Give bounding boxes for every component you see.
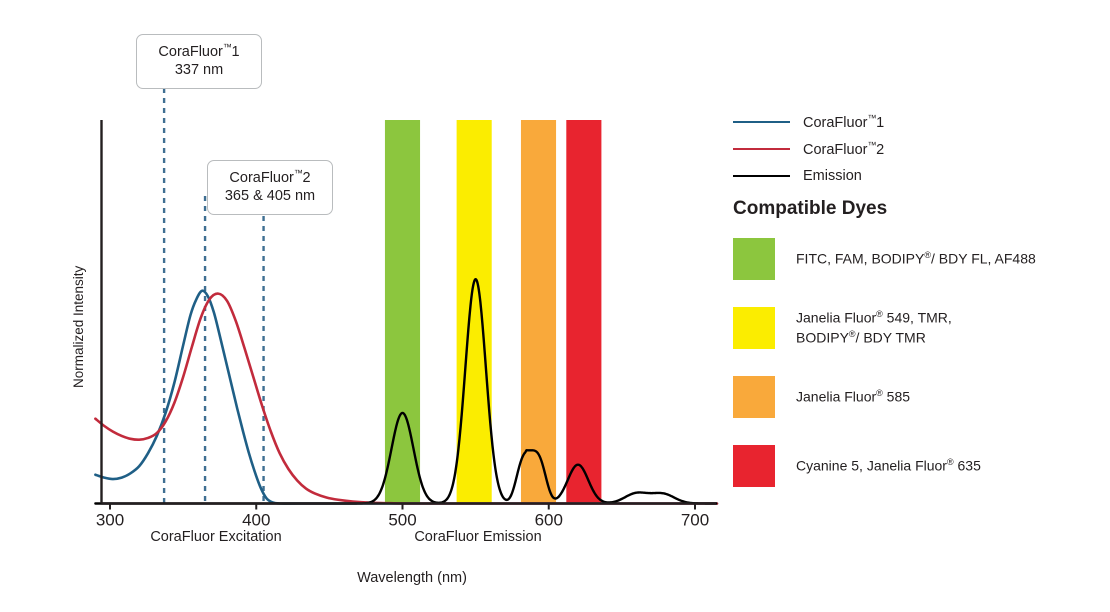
callout-2-value: 365 & 405 nm — [225, 188, 315, 204]
chart-axis-ticks-group: 300400500600700 — [96, 504, 709, 530]
dye-item-3: Janelia Fluor® 585 — [731, 372, 1110, 422]
compatible-dyes-list: FITC, FAM, BODIPY®/ BDY FL, AF488Janelia… — [731, 234, 1110, 510]
dye-color-swatch — [733, 307, 775, 349]
dye-color-swatch — [733, 238, 775, 280]
legend-item-label: CoraFluor™2 — [803, 140, 884, 158]
y-axis-label: Normalized Intensity — [71, 265, 86, 388]
x-axis-section-label-emission: CoraFluor Emission — [414, 529, 541, 545]
legend-item-1: CoraFluor™1 — [731, 108, 1110, 135]
legend-line-swatch — [733, 175, 790, 177]
legend-line-swatch — [733, 121, 790, 123]
dye-label-line: Janelia Fluor® 549, TMR, — [796, 308, 952, 328]
x-tick-label-600: 600 — [535, 511, 563, 530]
dye-label-line: Cyanine 5, Janelia Fluor® 635 — [796, 456, 981, 476]
green-band — [385, 120, 420, 504]
legend-item-3: Emission — [731, 162, 1110, 189]
x-tick-label-500: 500 — [388, 511, 416, 530]
yellow-band — [457, 120, 492, 504]
compatible-dyes-title: Compatible Dyes — [733, 198, 887, 220]
chart-legend: CoraFluor™1CoraFluor™2Emission — [731, 108, 1110, 189]
x-axis-section-label-excitation: CoraFluor Excitation — [150, 529, 281, 545]
spectra-chart-svg: 300400500600700 Normalized Intensity Cor… — [0, 0, 730, 612]
legend-line-swatch — [733, 148, 790, 150]
dye-label-line: Janelia Fluor® 585 — [796, 387, 910, 407]
callout-corafluor-1: CoraFluor™1 337 nm — [136, 34, 262, 89]
callout-2-number: 2 — [303, 170, 311, 186]
callout-2-tm: ™ — [294, 168, 303, 178]
x-tick-label-300: 300 — [96, 511, 124, 530]
x-axis-label: Wavelength (nm) — [357, 570, 467, 586]
dye-item-label: Janelia Fluor® 585 — [796, 387, 910, 407]
x-tick-label-400: 400 — [242, 511, 270, 530]
dye-item-label: Cyanine 5, Janelia Fluor® 635 — [796, 456, 981, 476]
legend-item-2: CoraFluor™2 — [731, 135, 1110, 162]
chart-plot-area: 300400500600700 Normalized Intensity Cor… — [0, 0, 730, 612]
callout-1-tm: ™ — [223, 42, 232, 52]
callout-corafluor-2: CoraFluor™2 365 & 405 nm — [207, 160, 333, 215]
legend-item-label: CoraFluor™1 — [803, 113, 884, 131]
dye-label-line: FITC, FAM, BODIPY®/ BDY FL, AF488 — [796, 249, 1036, 269]
chart-side-panel: CoraFluor™1CoraFluor™2Emission Compatibl… — [731, 0, 1110, 612]
orange-band — [521, 120, 556, 504]
callout-1-value: 337 nm — [175, 62, 223, 78]
x-tick-label-700: 700 — [681, 511, 709, 530]
dye-color-swatch — [733, 445, 775, 487]
legend-item-label: Emission — [803, 168, 862, 184]
callout-1-title: CoraFluor — [158, 44, 222, 60]
dye-item-label: FITC, FAM, BODIPY®/ BDY FL, AF488 — [796, 249, 1036, 269]
dye-item-label: Janelia Fluor® 549, TMR,BODIPY®/ BDY TMR — [796, 308, 952, 347]
dye-item-1: FITC, FAM, BODIPY®/ BDY FL, AF488 — [731, 234, 1110, 284]
red-band — [566, 120, 601, 504]
dye-item-4: Cyanine 5, Janelia Fluor® 635 — [731, 441, 1110, 491]
dye-label-line: BODIPY®/ BDY TMR — [796, 328, 952, 348]
dye-color-swatch — [733, 376, 775, 418]
dye-item-2: Janelia Fluor® 549, TMR,BODIPY®/ BDY TMR — [731, 303, 1110, 353]
callout-2-title: CoraFluor — [229, 170, 293, 186]
callout-1-number: 1 — [232, 44, 240, 60]
